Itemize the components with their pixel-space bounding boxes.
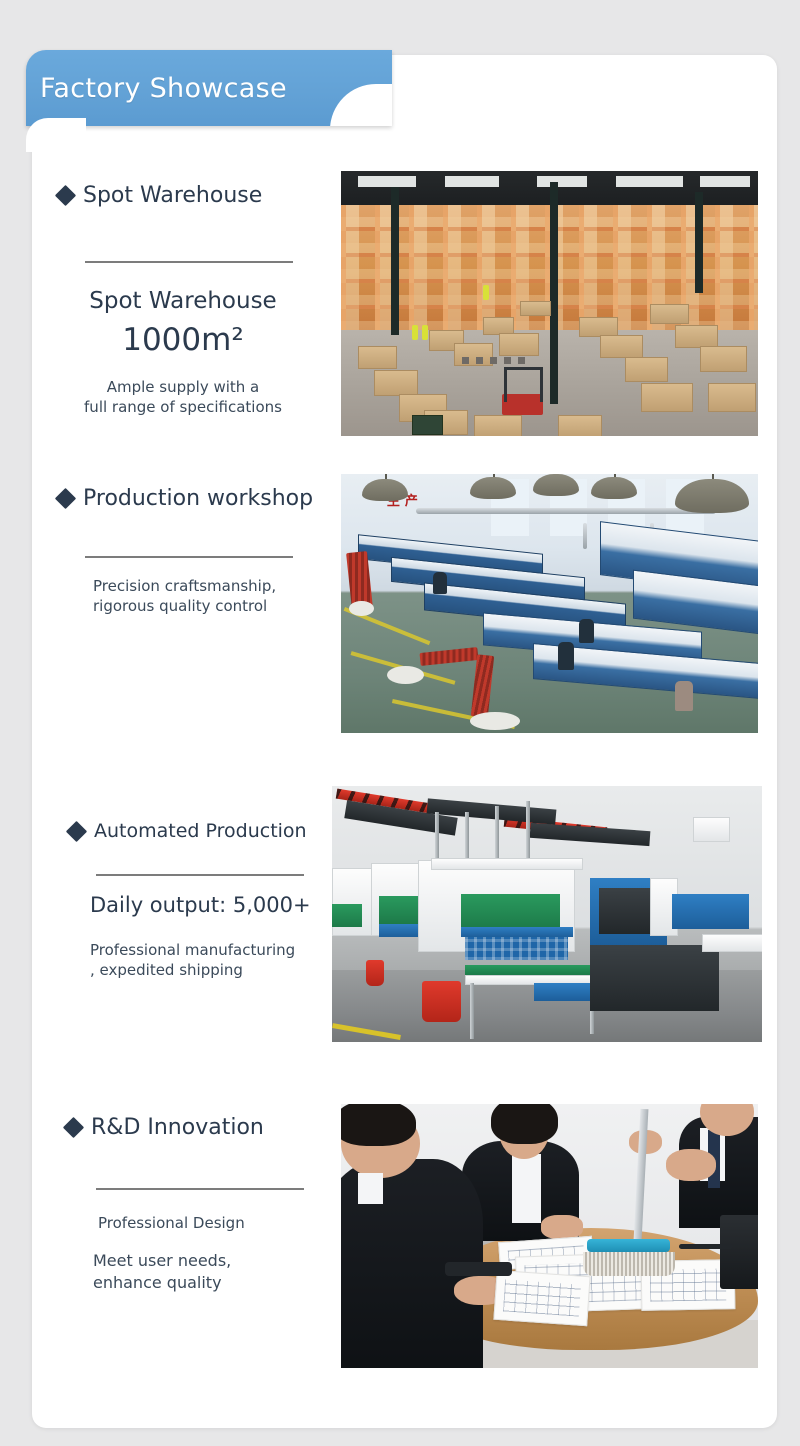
section-2-divider	[85, 556, 293, 558]
section-1-heading-row: Spot Warehouse	[58, 183, 262, 208]
production-workshop-photo: 生产	[341, 474, 758, 733]
section-3-heading: Automated Production	[94, 820, 307, 842]
section-1-stat-value: 1000m²	[58, 322, 308, 358]
page-title: Factory Showcase	[40, 50, 370, 126]
section-1-description: Ample supply with a full range of specif…	[58, 377, 308, 418]
section-3-description-line-2: , expedited shipping	[90, 960, 335, 980]
section-4-divider	[96, 1188, 304, 1190]
section-3-stat-value: Daily output: 5,000+	[90, 893, 330, 917]
diamond-icon	[66, 820, 87, 841]
section-1-stat-label: Spot Warehouse	[58, 288, 308, 314]
factory-showcase-page: Factory Showcase Spot Warehouse Spot War…	[0, 0, 800, 1446]
section-2-description-line-1: Precision craftsmanship,	[93, 576, 323, 596]
section-3-divider	[96, 874, 304, 876]
section-4-description-line-2: enhance quality	[93, 1272, 333, 1294]
section-3-heading-row: Automated Production	[69, 820, 307, 842]
section-2-heading: Production workshop	[83, 486, 313, 511]
section-4-description: Meet user needs, enhance quality	[93, 1250, 333, 1293]
section-1-description-line-1: Ample supply with a	[58, 377, 308, 397]
section-1-divider	[85, 261, 293, 263]
rd-innovation-photo	[341, 1104, 758, 1368]
section-1-description-line-2: full range of specifications	[58, 397, 308, 417]
section-4-description-line-1: Meet user needs,	[93, 1250, 333, 1272]
section-1-heading: Spot Warehouse	[83, 183, 262, 208]
automated-production-photo	[332, 786, 762, 1042]
diamond-icon	[63, 1117, 84, 1138]
section-2-description-line-2: rigorous quality control	[93, 596, 323, 616]
section-2-description: Precision craftsmanship, rigorous qualit…	[93, 576, 323, 617]
section-3-description-line-1: Professional manufacturing	[90, 940, 335, 960]
spot-warehouse-photo	[341, 171, 758, 436]
diamond-icon	[55, 185, 76, 206]
section-2-heading-row: Production workshop	[58, 486, 313, 511]
section-4-heading: R&D Innovation	[91, 1115, 264, 1140]
diamond-icon	[55, 488, 76, 509]
section-3-description: Professional manufacturing , expedited s…	[90, 940, 335, 981]
section-4-heading-row: R&D Innovation	[66, 1115, 264, 1140]
section-4-stat-label: Professional Design	[98, 1213, 338, 1233]
